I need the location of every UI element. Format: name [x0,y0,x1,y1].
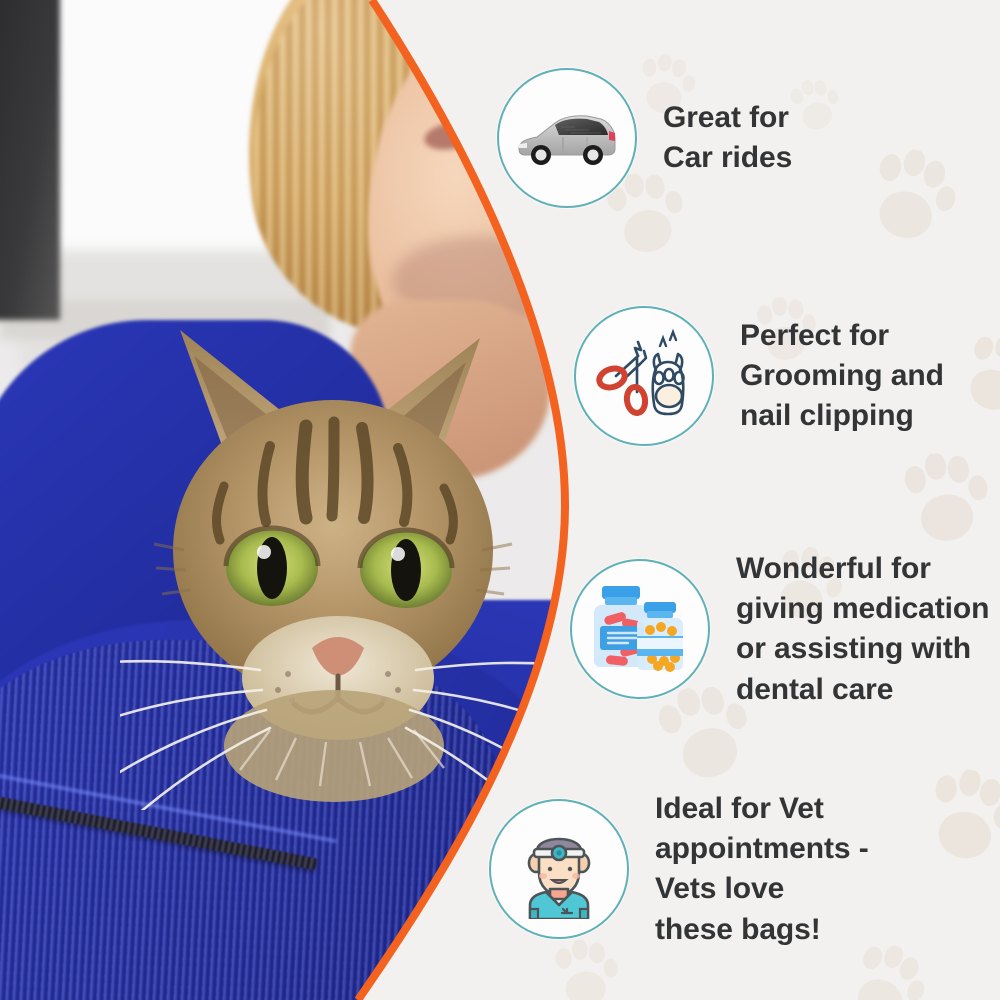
car-icon [515,103,619,173]
pill-bottles-icon [588,580,692,678]
paw-watermark-icon [891,447,998,559]
feature-icon-circle [570,559,710,699]
feature-label: Ideal for Vet appointments - Vets love t… [655,789,869,950]
feature-item-vet-appointments[interactable]: Ideal for Vet appointments - Vets love t… [489,789,869,950]
feature-icon-circle [574,306,714,446]
feature-icon-circle [489,799,629,939]
feature-label: Great for Car rides [663,98,792,178]
feature-icon-circle [497,68,637,208]
product-feature-panel: Great for Car rides [0,0,1000,1000]
feature-label: Perfect for Grooming and nail clipping [740,316,944,437]
paw-watermark-icon [912,763,1000,878]
veterinarian-icon [510,819,608,919]
cat-photo-subject [120,250,550,810]
clinic-monitor [0,0,60,320]
nail-clipper-paw-icon [594,328,694,424]
feature-item-grooming[interactable]: Perfect for Grooming and nail clipping [574,306,944,446]
feature-item-medication[interactable]: Wonderful for giving medication or assis… [570,549,989,710]
feature-item-car-rides[interactable]: Great for Car rides [497,68,792,208]
feature-label: Wonderful for giving medication or assis… [736,549,989,710]
